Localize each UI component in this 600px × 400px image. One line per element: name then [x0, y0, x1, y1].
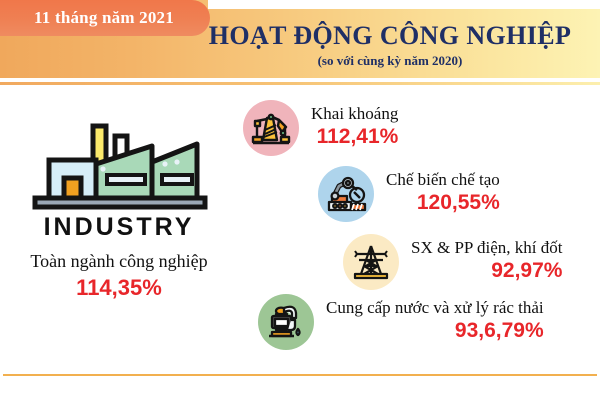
sector-label: Chế biến chế tạo: [386, 170, 500, 190]
page-title: HOẠT ĐỘNG CÔNG NGHIỆP: [190, 21, 590, 51]
robot-arm-icon: [318, 166, 374, 222]
page-subtitle: (so với cùng kỳ năm 2020): [190, 53, 590, 69]
sector-text: Khai khoáng 112,41%: [311, 100, 398, 149]
infographic-page: 11 tháng năm 2021 HOẠT ĐỘNG CÔNG NGHIỆP …: [0, 0, 600, 400]
overall-industry-label: Toàn ngành công nghiệp: [8, 251, 230, 272]
sector-value: 112,41%: [311, 125, 398, 149]
sector-text: SX & PP điện, khí đốt 92,97%: [411, 234, 562, 283]
sector-text: Cung cấp nước và xử lý rác thải 93,6,79%: [326, 294, 544, 343]
industry-wordmark: INDUSTRY: [8, 213, 230, 242]
factory-illustration: [19, 120, 219, 215]
oil-pumpjack-icon: [243, 100, 299, 156]
power-pylon-icon: [343, 234, 399, 290]
sector-row: Khai khoáng 112,41%: [243, 100, 398, 156]
overall-industry-value: 114,35%: [8, 275, 230, 301]
sector-label: Khai khoáng: [311, 104, 398, 124]
header-top-notch: [208, 0, 600, 9]
sector-label: Cung cấp nước và xử lý rác thải: [326, 298, 544, 318]
sector-row: SX & PP điện, khí đốt 92,97%: [343, 234, 562, 290]
date-badge: 11 tháng năm 2021: [0, 0, 210, 36]
sector-label: SX & PP điện, khí đốt: [411, 238, 562, 258]
sector-value: 93,6,79%: [326, 319, 544, 343]
sector-row: Chế biến chế tạo 120,55%: [318, 166, 500, 222]
sector-value: 120,55%: [386, 191, 500, 215]
water-pump-icon: [258, 294, 314, 350]
bottom-divider: [3, 374, 597, 376]
sector-row: Cung cấp nước và xử lý rác thải 93,6,79%: [258, 294, 544, 350]
overall-industry-block: INDUSTRY Toàn ngành công nghiệp 114,35%: [8, 120, 230, 301]
header-divider: [0, 82, 600, 85]
sector-text: Chế biến chế tạo 120,55%: [386, 166, 500, 215]
sector-value: 92,97%: [411, 259, 562, 283]
